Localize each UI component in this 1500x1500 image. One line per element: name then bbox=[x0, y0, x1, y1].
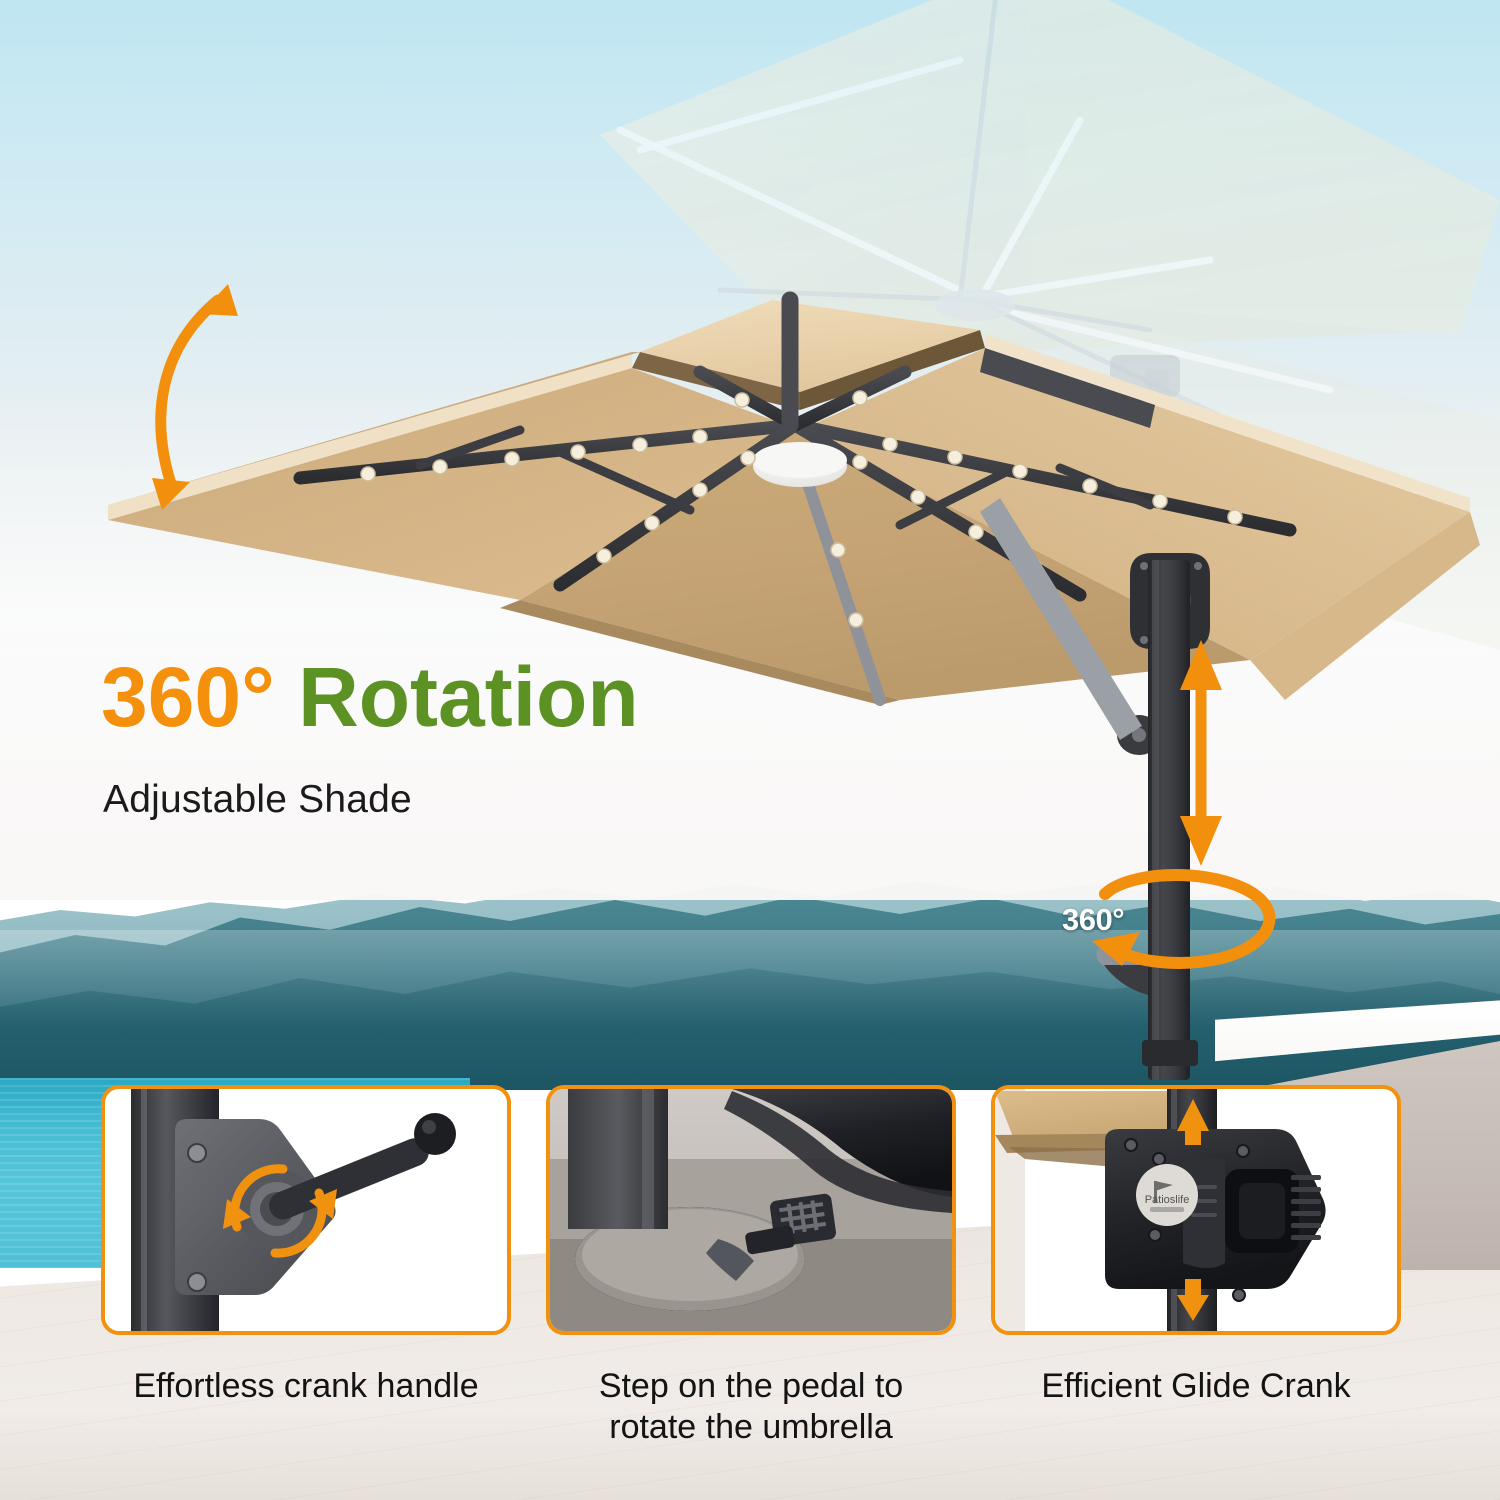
svg-text:Patioslife: Patioslife bbox=[1145, 1194, 1190, 1206]
foot-pedal-lever bbox=[1096, 943, 1148, 995]
feature-panels: Patioslife Effortless crank handle Step … bbox=[0, 1085, 1500, 1500]
feature-panel-crank-handle[interactable] bbox=[101, 1085, 511, 1335]
foot-pedal-icon bbox=[550, 1089, 952, 1331]
panel-caption-foot-pedal: Step on the pedal to rotate the umbrella bbox=[536, 1366, 966, 1449]
glide-crank-icon: Patioslife bbox=[995, 1089, 1397, 1331]
rotation-360-badge: 360° bbox=[1062, 902, 1124, 938]
page-title: 360° Rotation bbox=[101, 655, 921, 739]
panel-caption-foot-pedal-line1: Step on the pedal to bbox=[536, 1366, 966, 1407]
main-umbrella bbox=[0, 0, 1500, 1150]
page-subtitle: Adjustable Shade bbox=[103, 778, 412, 822]
headline-word: Rotation bbox=[275, 650, 639, 744]
feature-panel-glide-crank[interactable]: Patioslife bbox=[991, 1085, 1401, 1335]
panel-caption-crank-handle: Effortless crank handle bbox=[91, 1366, 521, 1407]
marketing-image-stage: 360° 360° Rotation Adjustable Shade bbox=[0, 0, 1500, 1500]
panel-caption-glide-crank: Efficient Glide Crank bbox=[981, 1366, 1411, 1407]
pole-collar bbox=[1142, 1040, 1198, 1066]
headline-degrees: 360° bbox=[101, 650, 275, 744]
feature-panel-foot-pedal[interactable] bbox=[546, 1085, 956, 1335]
panel-caption-foot-pedal-line2: rotate the umbrella bbox=[536, 1407, 966, 1448]
crank-handle-icon bbox=[105, 1089, 507, 1331]
